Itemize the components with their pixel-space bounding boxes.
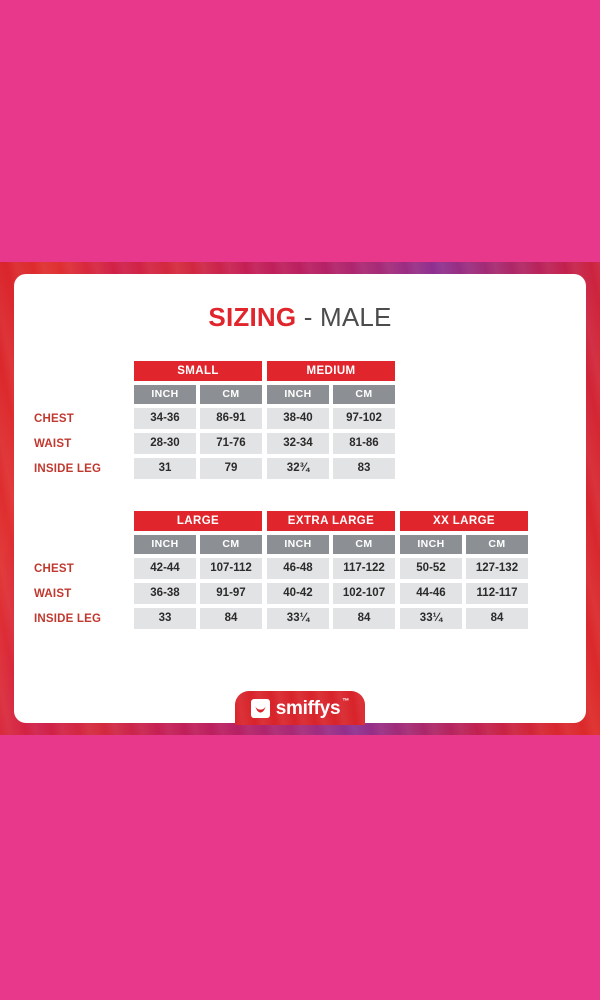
unit-group-medium: INCH CM xyxy=(267,385,395,404)
size-header-small: SMALL xyxy=(134,361,262,381)
data-group-xx-large: 33¼ 84 xyxy=(400,608,528,629)
size-group-extra-large: EXTRA LARGE xyxy=(267,511,395,531)
cell-medium-inch: 32-34 xyxy=(267,433,329,454)
page-title: SIZING - MALE xyxy=(34,302,566,333)
unit-header-cm: CM xyxy=(466,535,528,554)
cell-small-inch: 34-36 xyxy=(134,408,196,429)
unit-group-large: INCH CM xyxy=(134,535,262,554)
sizing-chart-card: SIZING - MALE SMALL MEDIUM INCH CM xyxy=(14,274,586,723)
cell-small-cm: 71-76 xyxy=(200,433,262,454)
sizing-chart-panel: SIZING - MALE SMALL MEDIUM INCH CM xyxy=(0,262,600,735)
row-label-spacer xyxy=(34,511,134,531)
cell-extra-large-cm: 117-122 xyxy=(333,558,395,579)
table-row: WAIST 36-38 91-97 40-42 102-107 44-46 11… xyxy=(34,583,566,604)
unit-group-small: INCH CM xyxy=(134,385,262,404)
row-label-chest: CHEST xyxy=(34,408,134,429)
cell-small-inch: 31 xyxy=(134,458,196,479)
size-header-xx-large: XX LARGE xyxy=(400,511,528,531)
unit-header-inch: INCH xyxy=(134,535,196,554)
unit-header-inch: INCH xyxy=(267,385,329,404)
size-group-xx-large: XX LARGE xyxy=(400,511,528,531)
size-header-row: LARGE EXTRA LARGE XX LARGE xyxy=(34,511,566,531)
cell-large-inch: 42-44 xyxy=(134,558,196,579)
row-label-waist: WAIST xyxy=(34,433,134,454)
row-label-inside-leg: INSIDE LEG xyxy=(34,608,134,629)
cell-extra-large-cm: 84 xyxy=(333,608,395,629)
cell-xx-large-cm: 127-132 xyxy=(466,558,528,579)
data-group-extra-large: 40-42 102-107 xyxy=(267,583,395,604)
trademark-symbol: ™ xyxy=(342,698,349,705)
cell-medium-cm: 81-86 xyxy=(333,433,395,454)
cell-xx-large-inch: 33¼ xyxy=(400,608,462,629)
size-header-extra-large: EXTRA LARGE xyxy=(267,511,395,531)
smiffys-wordmark: smiffys xyxy=(276,699,340,718)
smiffys-logo: smiffys ™ xyxy=(235,691,365,725)
cell-medium-inch: 38-40 xyxy=(267,408,329,429)
data-group-extra-large: 46-48 117-122 xyxy=(267,558,395,579)
data-group-small: 28-30 71-76 xyxy=(134,433,262,454)
cell-small-cm: 86-91 xyxy=(200,408,262,429)
unit-header-cm: CM xyxy=(333,535,395,554)
data-group-medium: 32¾ 83 xyxy=(267,458,395,479)
size-group-large: LARGE xyxy=(134,511,262,531)
cell-large-inch: 36-38 xyxy=(134,583,196,604)
cell-small-cm: 79 xyxy=(200,458,262,479)
row-label-spacer xyxy=(34,361,134,381)
size-header-large: LARGE xyxy=(134,511,262,531)
unit-header-row: INCH CM INCH CM xyxy=(34,385,566,404)
data-group-xx-large: 50-52 127-132 xyxy=(400,558,528,579)
size-group-medium: MEDIUM xyxy=(267,361,395,381)
cell-large-cm: 91-97 xyxy=(200,583,262,604)
cell-large-cm: 107-112 xyxy=(200,558,262,579)
cell-extra-large-inch: 33¼ xyxy=(267,608,329,629)
data-group-small: 34-36 86-91 xyxy=(134,408,262,429)
unit-header-cm: CM xyxy=(200,535,262,554)
data-group-extra-large: 33¼ 84 xyxy=(267,608,395,629)
table-row: WAIST 28-30 71-76 32-34 81-86 xyxy=(34,433,566,454)
unit-header-cm: CM xyxy=(333,385,395,404)
cell-xx-large-cm: 112-117 xyxy=(466,583,528,604)
cell-medium-cm: 83 xyxy=(333,458,395,479)
cell-xx-large-inch: 50-52 xyxy=(400,558,462,579)
data-group-medium: 32-34 81-86 xyxy=(267,433,395,454)
row-label-waist: WAIST xyxy=(34,583,134,604)
data-group-large: 36-38 91-97 xyxy=(134,583,262,604)
table-row: CHEST 34-36 86-91 38-40 97-102 xyxy=(34,408,566,429)
cell-extra-large-inch: 40-42 xyxy=(267,583,329,604)
table-row: INSIDE LEG 33 84 33¼ 84 33¼ 84 xyxy=(34,608,566,629)
size-header-medium: MEDIUM xyxy=(267,361,395,381)
data-group-small: 31 79 xyxy=(134,458,262,479)
unit-header-inch: INCH xyxy=(267,535,329,554)
table-row: INSIDE LEG 31 79 32¾ 83 xyxy=(34,458,566,479)
size-group-small: SMALL xyxy=(134,361,262,381)
table-small-medium: SMALL MEDIUM INCH CM INCH CM xyxy=(34,361,566,479)
table-large-xl-xxl: LARGE EXTRA LARGE XX LARGE INCH CM INCH xyxy=(34,511,566,629)
unit-header-cm: CM xyxy=(200,385,262,404)
smile-swoosh-icon xyxy=(251,699,270,718)
unit-header-inch: INCH xyxy=(400,535,462,554)
cell-small-inch: 28-30 xyxy=(134,433,196,454)
unit-group-xx-large: INCH CM xyxy=(400,535,528,554)
cell-medium-cm: 97-102 xyxy=(333,408,395,429)
unit-group-extra-large: INCH CM xyxy=(267,535,395,554)
unit-header-inch: INCH xyxy=(134,385,196,404)
table-row: CHEST 42-44 107-112 46-48 117-122 50-52 … xyxy=(34,558,566,579)
data-group-large: 42-44 107-112 xyxy=(134,558,262,579)
row-label-chest: CHEST xyxy=(34,558,134,579)
size-header-row: SMALL MEDIUM xyxy=(34,361,566,381)
cell-extra-large-inch: 46-48 xyxy=(267,558,329,579)
cell-medium-inch: 32¾ xyxy=(267,458,329,479)
row-label-inside-leg: INSIDE LEG xyxy=(34,458,134,479)
row-label-spacer xyxy=(34,385,134,404)
cell-large-inch: 33 xyxy=(134,608,196,629)
cell-xx-large-inch: 44-46 xyxy=(400,583,462,604)
data-group-large: 33 84 xyxy=(134,608,262,629)
cell-xx-large-cm: 84 xyxy=(466,608,528,629)
title-rest: - MALE xyxy=(296,302,391,332)
row-label-spacer xyxy=(34,535,134,554)
data-group-xx-large: 44-46 112-117 xyxy=(400,583,528,604)
cell-large-cm: 84 xyxy=(200,608,262,629)
cell-extra-large-cm: 102-107 xyxy=(333,583,395,604)
title-highlight: SIZING xyxy=(208,302,296,332)
unit-header-row: INCH CM INCH CM INCH CM xyxy=(34,535,566,554)
data-group-medium: 38-40 97-102 xyxy=(267,408,395,429)
